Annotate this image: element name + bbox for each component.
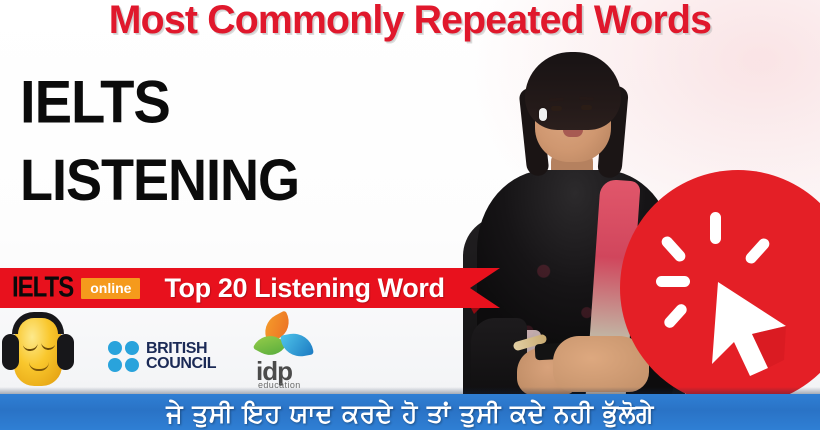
bc-dot [125,341,139,355]
online-chip-badge: online [81,278,140,299]
bc-line-2: COUNCIL [146,356,216,371]
bc-dot [108,341,122,355]
big-word-listening: LISTENING [20,152,299,210]
headphone-cup-right [57,334,74,370]
mouse-click-cursor-icon [634,204,814,384]
earbud-icon [539,108,547,121]
bc-dot [125,358,139,372]
video-thumbnail: Most Commonly Repeated Words IELTS LISTE… [0,0,820,430]
headphone-band [12,312,64,334]
ielts-brand-mark: IELTS [12,271,73,304]
british-council-wordmark: BRITISH COUNCIL [146,341,216,371]
big-word-ielts: IELTS [20,72,170,132]
headline-text: Most Commonly Repeated Words [8,0,812,43]
idp-education-logo: idp education [250,316,328,392]
headphone-cup-left [2,334,19,370]
british-council-logo: BRITISH COUNCIL [108,338,230,374]
presenter-eye-left [551,106,562,111]
bc-line-1: BRITISH [146,341,216,356]
ribbon-title-text: Top 20 Listening Word [164,273,444,304]
british-council-dots-icon [108,341,139,372]
presenter-eye-right [581,105,592,110]
caption-text: ਜੇ ਤੁਸੀ ਇਹ ਯਾਦ ਕਰਦੇ ਹੋ ਤਾਂ ਤੁਸੀ ਕਦੇ ਨਹੀ … [166,399,654,429]
bc-dot [108,358,122,372]
caption-bar: ਜੇ ਤੁਸੀ ਇਹ ਯਾਦ ਕਰਦੇ ਹੋ ਤਾਂ ਤੁਸੀ ਕਦੇ ਨਹੀ … [0,394,820,430]
smiley-headphones-icon [2,312,74,390]
ribbon-banner: IELTS online Top 20 Listening Word [0,268,500,308]
caption-bar-shadow [0,387,820,394]
